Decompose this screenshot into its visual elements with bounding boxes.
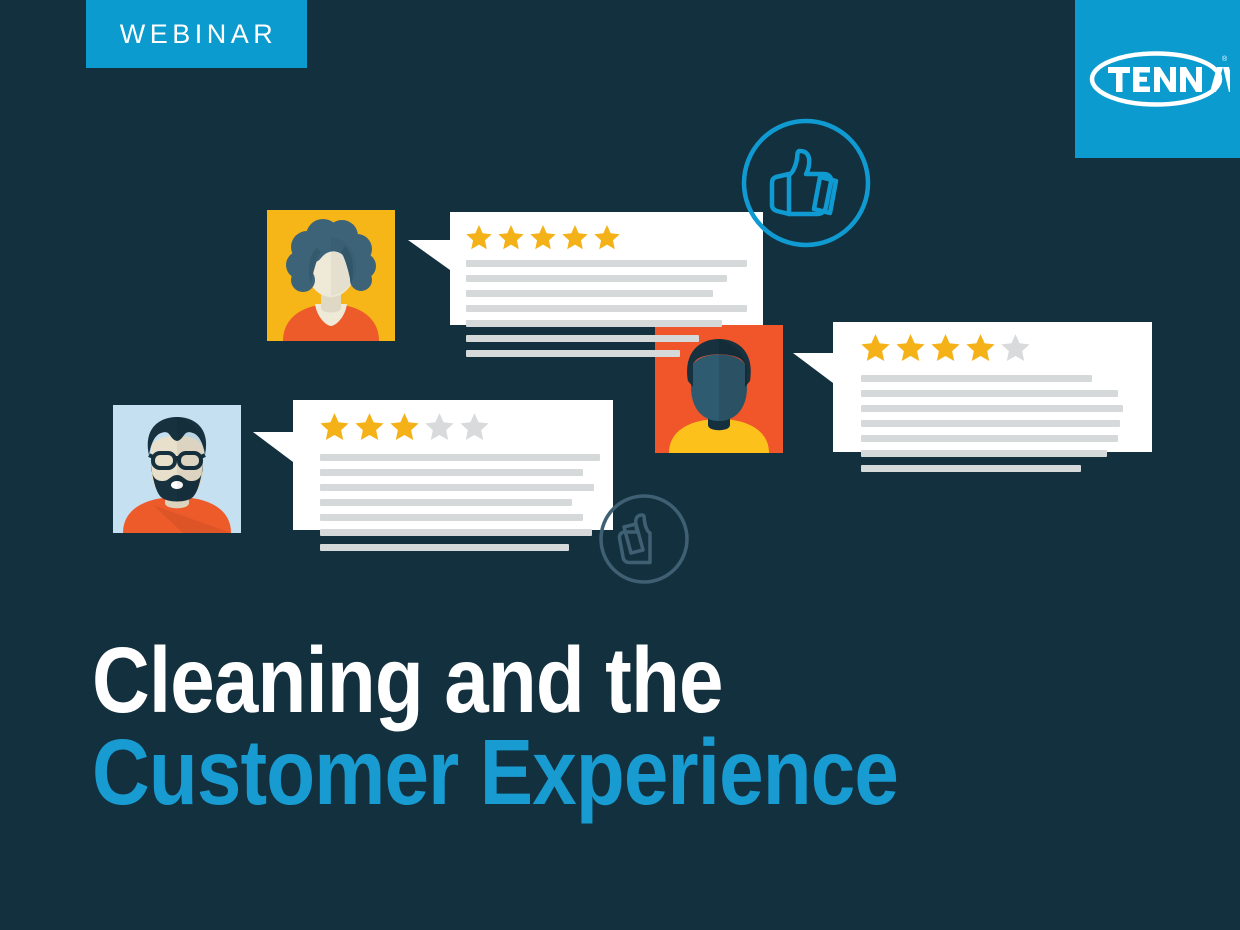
text-line — [320, 469, 583, 476]
star-icon — [594, 225, 620, 250]
star-rating — [466, 225, 620, 250]
review-text-lines — [861, 375, 1123, 480]
star-icon — [498, 225, 524, 250]
bearded-man-glasses-avatar — [113, 405, 241, 533]
review-card — [450, 212, 763, 325]
star-icon — [355, 413, 384, 441]
text-line — [861, 405, 1123, 412]
title-line-primary: Cleaning and the — [92, 634, 898, 726]
speech-bubble-tail — [253, 432, 293, 462]
text-line — [466, 350, 680, 357]
star-icon — [530, 225, 556, 250]
thumbs-up-reaction — [740, 117, 872, 249]
woman-curly-hair-avatar — [267, 210, 395, 341]
star-rating — [861, 334, 1030, 362]
text-line — [320, 544, 569, 551]
text-line — [320, 484, 594, 491]
text-line — [466, 275, 727, 282]
star-icon-empty — [425, 413, 454, 441]
registered-trademark: ® — [1222, 55, 1228, 63]
text-line — [466, 260, 747, 267]
text-line — [466, 335, 699, 342]
text-line — [320, 454, 600, 461]
speech-bubble-tail — [793, 353, 833, 383]
review-card — [293, 400, 613, 530]
review-text-lines — [320, 454, 600, 559]
text-line — [466, 290, 713, 297]
star-icon-empty — [1001, 334, 1030, 362]
text-line — [466, 320, 722, 327]
star-icon — [966, 334, 995, 362]
text-line — [861, 420, 1120, 427]
star-icon — [562, 225, 588, 250]
star-icon — [931, 334, 960, 362]
text-line — [861, 390, 1118, 397]
thumbs-down-reaction — [598, 493, 690, 585]
tennant-logo-icon: ® — [1086, 48, 1230, 110]
star-icon — [320, 413, 349, 441]
webinar-badge: WEBINAR — [86, 0, 307, 68]
text-line — [861, 375, 1092, 382]
star-rating — [320, 413, 489, 441]
tennant-logo-block: ® — [1075, 0, 1240, 158]
star-icon — [896, 334, 925, 362]
text-line — [861, 450, 1107, 457]
text-line — [320, 499, 572, 506]
text-line — [861, 465, 1081, 472]
star-icon — [861, 334, 890, 362]
star-icon — [390, 413, 419, 441]
review-card — [833, 322, 1152, 452]
text-line — [320, 529, 592, 536]
text-line — [466, 305, 747, 312]
speech-bubble-tail — [408, 240, 450, 270]
slide-title: Cleaning and the Customer Experience — [92, 634, 1029, 818]
text-line — [861, 435, 1118, 442]
title-line-secondary: Customer Experience — [92, 726, 898, 818]
webinar-title-slide: WEBINAR — [0, 0, 1240, 930]
text-line — [320, 514, 583, 521]
webinar-badge-label: WEBINAR — [116, 21, 278, 48]
star-icon-empty — [460, 413, 489, 441]
review-text-lines — [466, 260, 747, 365]
star-icon — [466, 225, 492, 250]
